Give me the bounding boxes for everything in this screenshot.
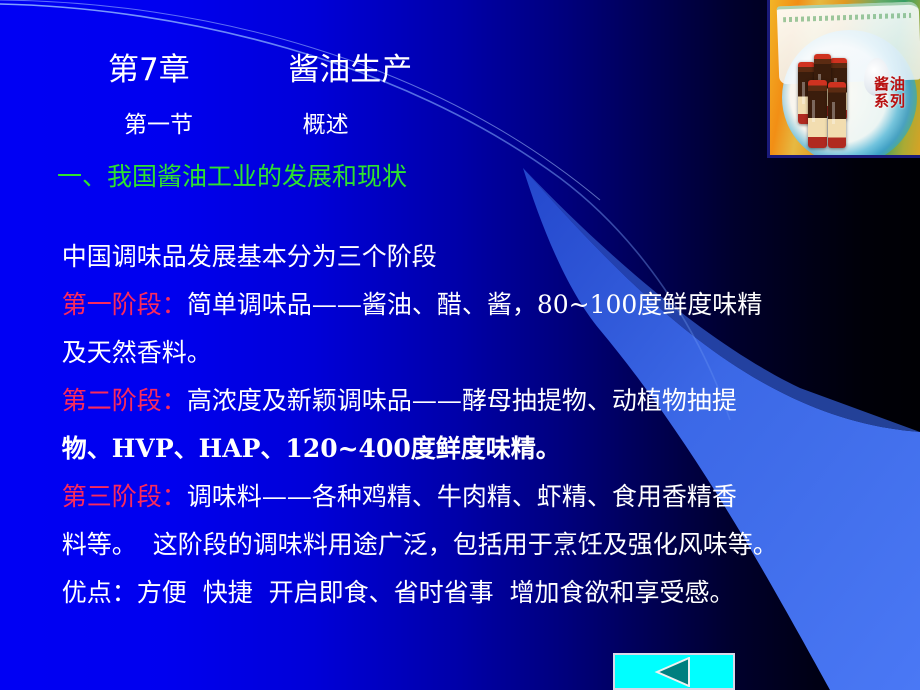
slide-title: 第7章 酱油生产 xyxy=(108,44,412,89)
body-text: 简单调味品——酱油、醋、酱，80~100度鲜度味精 xyxy=(187,290,762,319)
photo-caption: 酱油系列 xyxy=(866,76,914,110)
presentation-slide: 酱油系列 第7章 酱油生产 第一节 概述 一、我国酱油工业的发展和现状 中国调味… xyxy=(0,0,920,690)
soy-sauce-bottle xyxy=(808,80,827,148)
triangle-left-icon xyxy=(653,657,695,687)
photo-caption-line2: 系列 xyxy=(874,92,906,110)
product-photo: 酱油系列 xyxy=(767,0,920,158)
section-heading: 一、我国酱油工业的发展和现状 xyxy=(57,157,407,193)
soy-sauce-bottle xyxy=(828,82,846,148)
photo-caption-line1: 酱油 xyxy=(874,75,906,93)
body-text: 优点：方便 快捷 开启即食、省时省事 增加食欲和享受感。 xyxy=(62,578,735,607)
body-line-8: 优点：方便 快捷 开启即食、省时省事 增加食欲和享受感。 xyxy=(30,544,734,638)
back-navigation-button[interactable] xyxy=(613,653,735,690)
slide-subtitle: 第一节 概述 xyxy=(124,105,349,139)
